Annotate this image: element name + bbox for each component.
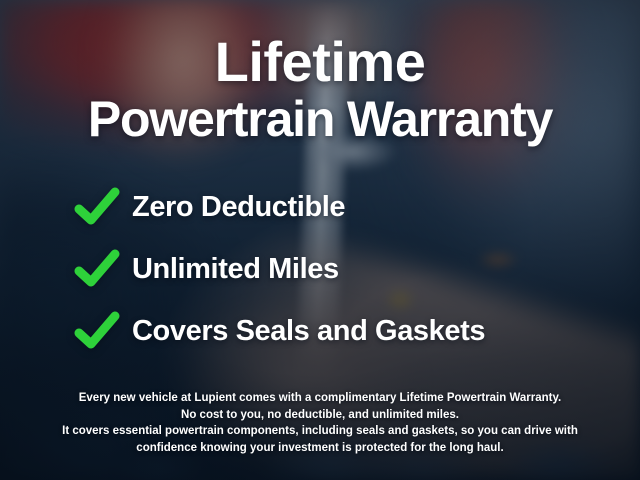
banner-content: Lifetime Powertrain Warranty Zero Deduct…: [0, 0, 640, 480]
headline-secondary: Powertrain Warranty: [0, 91, 640, 147]
lifetime-powertrain-warranty-banner: Lifetime Powertrain Warranty Zero Deduct…: [0, 0, 640, 480]
footer-description: Every new vehicle at Lupient comes with …: [0, 390, 640, 456]
feature-item: Zero Deductible: [0, 176, 640, 238]
footer-line: No cost to you, no deductible, and unlim…: [0, 407, 640, 424]
feature-label: Zero Deductible: [132, 191, 345, 224]
green-check-icon: [74, 248, 120, 290]
footer-line: confidence knowing your investment is pr…: [0, 440, 640, 457]
feature-label: Unlimited Miles: [132, 253, 339, 286]
green-check-icon: [74, 310, 120, 352]
headline-primary: Lifetime: [0, 32, 640, 92]
footer-line: Every new vehicle at Lupient comes with …: [0, 390, 640, 407]
feature-item: Covers Seals and Gaskets: [0, 300, 640, 362]
feature-list: Zero Deductible Unlimited Miles Covers S…: [0, 176, 640, 362]
feature-item: Unlimited Miles: [0, 238, 640, 300]
footer-line: It covers essential powertrain component…: [0, 423, 640, 440]
green-check-icon: [74, 186, 120, 228]
feature-label: Covers Seals and Gaskets: [132, 315, 485, 348]
